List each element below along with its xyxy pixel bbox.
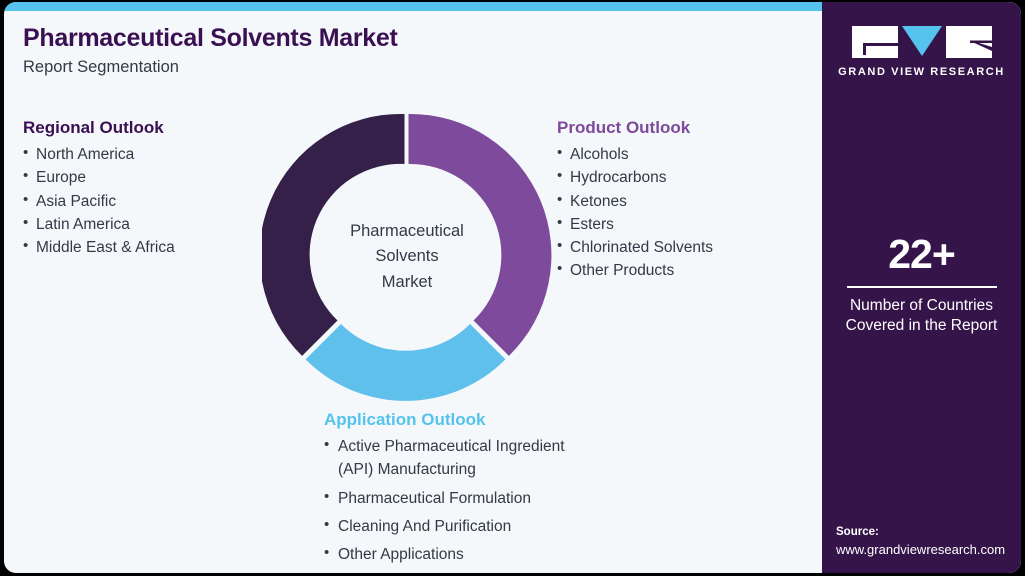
donut-segment-regional [262, 114, 405, 356]
list-item: Other Applications [324, 543, 654, 566]
list-item-line-2: (API) Manufacturing [338, 458, 654, 481]
list-item: Other Products [557, 259, 817, 282]
infographic-root: Pharmaceutical Solvents Market Report Se… [0, 0, 1025, 576]
header: Pharmaceutical Solvents Market Report Se… [23, 24, 723, 77]
list-item: Latin America [23, 213, 263, 236]
stat-divider [847, 286, 997, 288]
page-subtitle: Report Segmentation [23, 58, 723, 77]
infographic-canvas: Pharmaceutical Solvents Market Report Se… [4, 2, 1021, 573]
list-item: Middle East & Africa [23, 236, 263, 259]
source-title: Source: [836, 524, 1021, 541]
logo-r-icon [946, 26, 992, 58]
list-item: Alcohols [557, 143, 817, 166]
regional-outlook-heading: Regional Outlook [23, 118, 263, 138]
product-outlook-heading: Product Outlook [557, 118, 817, 138]
logo-g-icon [852, 26, 898, 58]
list-item: Pharmaceutical Formulation [324, 487, 654, 510]
stat-number: 22+ [822, 234, 1021, 275]
source-url[interactable]: www.grandviewresearch.com [836, 541, 1021, 559]
stat-label-line-2: Covered in the Report [822, 316, 1021, 336]
list-item-line-1: Active Pharmaceutical Ingredient [338, 438, 565, 455]
brand-sidebar: GRAND VIEW RESEARCH 22+ Number of Countr… [822, 2, 1021, 573]
logo-v-icon [902, 26, 942, 58]
list-item: Esters [557, 213, 817, 236]
product-outlook-block: Product Outlook Alcohols Hydrocarbons Ke… [557, 118, 817, 282]
application-outlook-block: Application Outlook Active Pharmaceutica… [324, 410, 654, 571]
donut-svg [262, 110, 552, 404]
product-outlook-list: Alcohols Hydrocarbons Ketones Esters Chl… [557, 143, 817, 282]
application-outlook-heading: Application Outlook [324, 410, 654, 430]
logo-marks [852, 26, 992, 58]
brand-logo: GRAND VIEW RESEARCH [822, 26, 1021, 78]
top-accent-bar [4, 2, 822, 11]
list-item: Cleaning And Purification [324, 515, 654, 538]
stat-block: 22+ Number of Countries Covered in the R… [822, 234, 1021, 336]
source-block: Source: www.grandviewresearch.com [836, 524, 1021, 559]
list-item: Ketones [557, 190, 817, 213]
regional-outlook-block: Regional Outlook North America Europe As… [23, 118, 263, 259]
list-item: North America [23, 143, 263, 166]
list-item: Asia Pacific [23, 190, 263, 213]
list-item: Hydrocarbons [557, 166, 817, 189]
list-item: Chlorinated Solvents [557, 236, 817, 259]
page-title: Pharmaceutical Solvents Market [23, 24, 723, 53]
stat-label: Number of Countries Covered in the Repor… [822, 296, 1021, 336]
regional-outlook-list: North America Europe Asia Pacific Latin … [23, 143, 263, 258]
stat-label-line-1: Number of Countries [822, 296, 1021, 316]
donut-segment-application [306, 324, 506, 401]
segmentation-donut-chart: Pharmaceutical Solvents Market [262, 110, 552, 404]
logo-wordmark: GRAND VIEW RESEARCH [838, 66, 1005, 78]
application-outlook-list: Active Pharmaceutical Ingredient(API) Ma… [324, 435, 654, 565]
list-item: Europe [23, 166, 263, 189]
donut-segment-product [409, 114, 552, 356]
list-item: Active Pharmaceutical Ingredient(API) Ma… [324, 435, 654, 481]
